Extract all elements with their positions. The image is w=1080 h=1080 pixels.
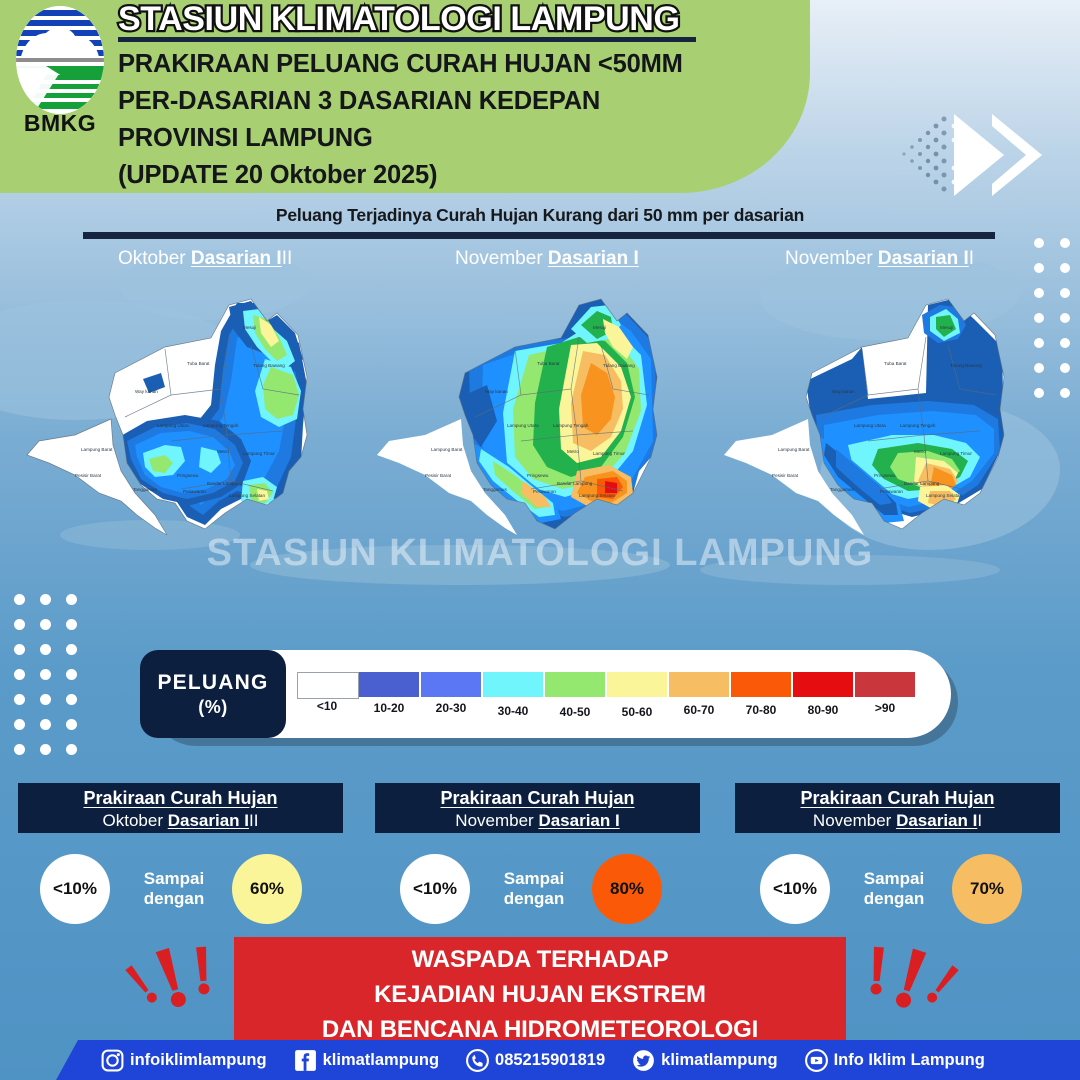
map-title-1-tail: II xyxy=(282,248,293,269)
map-title-3-dasarian: Dasarian I xyxy=(878,248,969,269)
svg-text:Way kanan: Way kanan xyxy=(485,389,508,394)
svg-text:Tanggamus: Tanggamus xyxy=(830,487,854,492)
forecast-max-2: 80% xyxy=(592,854,662,924)
warning-line-1: WASPADA TERHADAP xyxy=(234,943,846,978)
subtitle: Peluang Terjadinya Curah Hujan Kurang da… xyxy=(0,205,1080,226)
forecast-card-3-period: November Dasarian II xyxy=(735,810,1060,831)
svg-text:Bandar Lampung: Bandar Lampung xyxy=(207,481,243,486)
map-title-1-month: Oktober xyxy=(118,248,191,269)
youtube-icon xyxy=(804,1048,829,1073)
svg-text:Pringsewu: Pringsewu xyxy=(874,473,896,478)
legend-label-9: >90 xyxy=(854,701,916,715)
forecast-values-3: <10% Sampaidengan 70% xyxy=(760,850,1070,928)
legend-label-6: 60-70 xyxy=(668,703,730,717)
footer-label-youtube: Info Iklim Lampung xyxy=(834,1051,985,1070)
map-oktober-dasarian-3[interactable]: Tuba BaratWay kanan MesujiTulang Bawang … xyxy=(15,285,365,605)
forecast-max-1: 60% xyxy=(232,854,302,924)
footer-label-phone: 085215901819 xyxy=(495,1051,605,1070)
forecast-card-2-period: November Dasarian I xyxy=(375,810,700,831)
svg-text:Tanggamus: Tanggamus xyxy=(483,487,507,492)
infographic-canvas: BMKG STASIUN KLIMATOLOGI LAMPUNG PRAKIRA… xyxy=(0,0,1080,1080)
dot-grid-left xyxy=(14,594,78,756)
footer-label-facebook: klimatlampung xyxy=(323,1051,439,1070)
svg-text:Pesawaran: Pesawaran xyxy=(880,489,903,494)
bmkg-emblem-icon xyxy=(16,6,104,114)
footer-item-instagram[interactable]: infoiklimlampung xyxy=(100,1048,267,1073)
legend-label-7: 70-80 xyxy=(730,703,792,717)
legend-title-badge: PELUANG (%) xyxy=(140,650,286,738)
legend-label-5: 50-60 xyxy=(606,705,668,719)
svg-text:Way kanan: Way kanan xyxy=(832,389,855,394)
header-text-block: STASIUN KLIMATOLOGI LAMPUNG PRAKIRAAN PE… xyxy=(118,2,818,194)
svg-text:Lampung Barat: Lampung Barat xyxy=(431,447,463,452)
forecast-values-1: <10% Sampaidengan 60% xyxy=(40,850,350,928)
legend-label-0: <10 xyxy=(296,699,358,713)
lampung-choropleth-1: Tuba BaratWay kanan MesujiTulang Bawang … xyxy=(15,285,365,605)
legend-swatch-2 xyxy=(421,672,481,697)
svg-text:Tulang Bawang: Tulang Bawang xyxy=(950,363,982,368)
svg-text:Mesuji: Mesuji xyxy=(940,325,953,330)
exclamation-decoration-left xyxy=(122,935,232,1035)
forecast-card-header-3: Prakiraan Curah Hujan November Dasarian … xyxy=(735,783,1060,833)
footer-item-youtube[interactable]: Info Iklim Lampung xyxy=(804,1048,985,1073)
map-november-dasarian-1[interactable]: Tuba BaratWay kanan MesujiTulang Bawang … xyxy=(365,285,715,605)
legend-label-2: 20-30 xyxy=(420,701,482,715)
svg-text:Tuba Barat: Tuba Barat xyxy=(537,361,560,366)
map-title-3: November Dasarian II xyxy=(785,248,974,270)
svg-text:Pesisir Barat: Pesisir Barat xyxy=(75,473,102,478)
bmkg-logo-icon xyxy=(16,6,104,114)
svg-text:Tanggamus: Tanggamus xyxy=(133,487,157,492)
header-line-3: PROVINSI LAMPUNG xyxy=(118,120,818,157)
map-column-titles: Oktober Dasarian III November Dasarian I… xyxy=(0,248,1080,276)
footer-item-phone[interactable]: 085215901819 xyxy=(465,1048,605,1073)
legend-label-4: 40-50 xyxy=(544,705,606,719)
svg-text:Lampung Utara: Lampung Utara xyxy=(157,423,189,428)
instagram-icon xyxy=(100,1048,125,1073)
svg-text:Mesuji: Mesuji xyxy=(593,325,606,330)
svg-text:Tulang Bawang: Tulang Bawang xyxy=(253,363,285,368)
svg-text:Tuba Barat: Tuba Barat xyxy=(884,361,907,366)
map-title-2-month: November xyxy=(455,248,548,269)
legend-swatch-5 xyxy=(607,672,667,697)
forecast-min-1: <10% xyxy=(40,854,110,924)
exclamation-marks-icon xyxy=(122,935,232,1035)
svg-text:Bandar Lampung: Bandar Lampung xyxy=(904,481,940,486)
legend-swatches: <10 10-20 20-30 30-40 40-50 50-60 60-70 … xyxy=(297,672,917,722)
lampung-choropleth-2: Tuba BaratWay kanan MesujiTulang Bawang … xyxy=(365,285,715,605)
legend-label-8: 80-90 xyxy=(792,703,854,717)
svg-text:Pesisir Barat: Pesisir Barat xyxy=(772,473,799,478)
svg-text:Metro: Metro xyxy=(914,449,926,454)
svg-text:Lampung Selatan: Lampung Selatan xyxy=(926,493,962,498)
svg-text:Lampung Barat: Lampung Barat xyxy=(778,447,810,452)
map-november-dasarian-2[interactable]: Tuba BaratWay kanan MesujiTulang Bawang … xyxy=(712,285,1062,605)
legend-swatch-6 xyxy=(669,672,729,697)
phone-icon xyxy=(465,1048,490,1073)
dot-grid-right xyxy=(1034,238,1074,398)
svg-text:Metro: Metro xyxy=(567,449,579,454)
svg-text:Lampung Utara: Lampung Utara xyxy=(507,423,539,428)
svg-text:Pesisir Barat: Pesisir Barat xyxy=(425,473,452,478)
page-title: STASIUN KLIMATOLOGI LAMPUNG xyxy=(118,2,818,37)
svg-text:Metro: Metro xyxy=(217,449,229,454)
svg-text:Way kanan: Way kanan xyxy=(135,389,158,394)
svg-text:Bandar Lampung: Bandar Lampung xyxy=(557,481,593,486)
forecast-max-3: 70% xyxy=(952,854,1022,924)
forecast-min-3: <10% xyxy=(760,854,830,924)
forecast-card-1-period: Oktober Dasarian III xyxy=(18,810,343,831)
svg-text:Lampung Selatan: Lampung Selatan xyxy=(579,493,615,498)
forecast-min-2: <10% xyxy=(400,854,470,924)
svg-text:Pesawaran: Pesawaran xyxy=(533,489,556,494)
forecast-card-2-heading: Prakiraan Curah Hujan xyxy=(375,783,700,810)
bmkg-label: BMKG xyxy=(12,112,108,135)
footer-label-twitter: klimatlampung xyxy=(661,1051,777,1070)
svg-text:Tulang Bawang: Tulang Bawang xyxy=(603,363,635,368)
svg-text:Lampung Timur: Lampung Timur xyxy=(243,451,275,456)
map-title-1: Oktober Dasarian III xyxy=(118,248,292,270)
svg-text:Pringsewu: Pringsewu xyxy=(177,473,199,478)
footer-social-links: infoiklimlampung klimatlampung 085215901… xyxy=(100,1040,985,1080)
bmkg-logo: BMKG xyxy=(12,6,108,132)
legend-label-1: 10-20 xyxy=(358,701,420,715)
legend-swatch-8 xyxy=(793,672,853,697)
twitter-icon xyxy=(631,1048,656,1073)
footer-item-facebook[interactable]: klimatlampung xyxy=(293,1048,439,1073)
warning-line-2: KEJADIAN HUJAN EKSTREM xyxy=(234,978,846,1013)
legend-swatch-9 xyxy=(855,672,915,697)
forecast-connector-1: Sampaidengan xyxy=(132,869,216,910)
footer-item-twitter[interactable]: klimatlampung xyxy=(631,1048,777,1073)
map-panel-row: Tuba BaratWay kanan MesujiTulang Bawang … xyxy=(0,285,1080,605)
svg-text:Lampung Utara: Lampung Utara xyxy=(854,423,886,428)
svg-text:Lampung Timur: Lampung Timur xyxy=(940,451,972,456)
exclamation-marks-icon xyxy=(850,935,960,1035)
forecast-connector-3: Sampaidengan xyxy=(852,869,936,910)
forecast-card-header-2: Prakiraan Curah Hujan November Dasarian … xyxy=(375,783,700,833)
header-line-1: PRAKIRAAN PELUANG CURAH HUJAN <50MM xyxy=(118,46,818,83)
legend-title-line2: (%) xyxy=(198,697,228,718)
header-line-2: PER-DASARIAN 3 DASARIAN KEDEPAN xyxy=(118,83,818,120)
lampung-choropleth-3: Tuba BaratWay kanan MesujiTulang Bawang … xyxy=(712,285,1062,605)
svg-text:Lampung Timur: Lampung Timur xyxy=(593,451,625,456)
header-update-date: (UPDATE 20 Oktober 2025) xyxy=(118,157,818,194)
exclamation-decoration-right xyxy=(850,935,960,1035)
map-title-3-month: November xyxy=(785,248,878,269)
legend-label-3: 30-40 xyxy=(482,704,544,718)
legend-swatch-7 xyxy=(731,672,791,697)
forecast-card-header-1: Prakiraan Curah Hujan Oktober Dasarian I… xyxy=(18,783,343,833)
map-title-2-dasarian: Dasarian I xyxy=(548,248,639,269)
legend-swatch-3 xyxy=(483,672,543,697)
forecast-connector-2: Sampaidengan xyxy=(492,869,576,910)
footer-bar: infoiklimlampung klimatlampung 085215901… xyxy=(0,1040,1080,1080)
forecast-card-3-heading: Prakiraan Curah Hujan xyxy=(735,783,1060,810)
map-title-2: November Dasarian I xyxy=(455,248,639,270)
svg-text:Tuba Barat: Tuba Barat xyxy=(187,361,210,366)
double-arrow-icon xyxy=(896,108,1066,203)
arrow-decoration xyxy=(896,108,1066,198)
footer-label-instagram: infoiklimlampung xyxy=(130,1051,267,1070)
facebook-icon xyxy=(293,1048,318,1073)
svg-text:Lampung Selatan: Lampung Selatan xyxy=(229,493,265,498)
svg-text:Pringsewu: Pringsewu xyxy=(527,473,549,478)
warning-banner: WASPADA TERHADAP KEJADIAN HUJAN EKSTREM … xyxy=(234,937,846,1043)
svg-text:Lampung Tengah: Lampung Tengah xyxy=(553,423,589,428)
map-title-1-dasarian: Dasarian I xyxy=(191,248,282,269)
map-title-3-tail: I xyxy=(969,248,974,269)
svg-text:Lampung Tengah: Lampung Tengah xyxy=(203,423,239,428)
legend-title-line1: PELUANG xyxy=(157,670,268,696)
svg-text:Mesuji: Mesuji xyxy=(243,325,256,330)
subtitle-rule xyxy=(83,232,995,239)
legend-swatch-4 xyxy=(545,672,605,697)
svg-text:Pesawaran: Pesawaran xyxy=(183,489,206,494)
forecast-values-2: <10% Sampaidengan 80% xyxy=(400,850,710,928)
legend-swatch-1 xyxy=(359,672,419,697)
svg-text:Lampung Tengah: Lampung Tengah xyxy=(900,423,936,428)
forecast-card-1-heading: Prakiraan Curah Hujan xyxy=(18,783,343,810)
svg-text:Lampung Barat: Lampung Barat xyxy=(81,447,113,452)
legend-swatch-0 xyxy=(297,672,359,699)
